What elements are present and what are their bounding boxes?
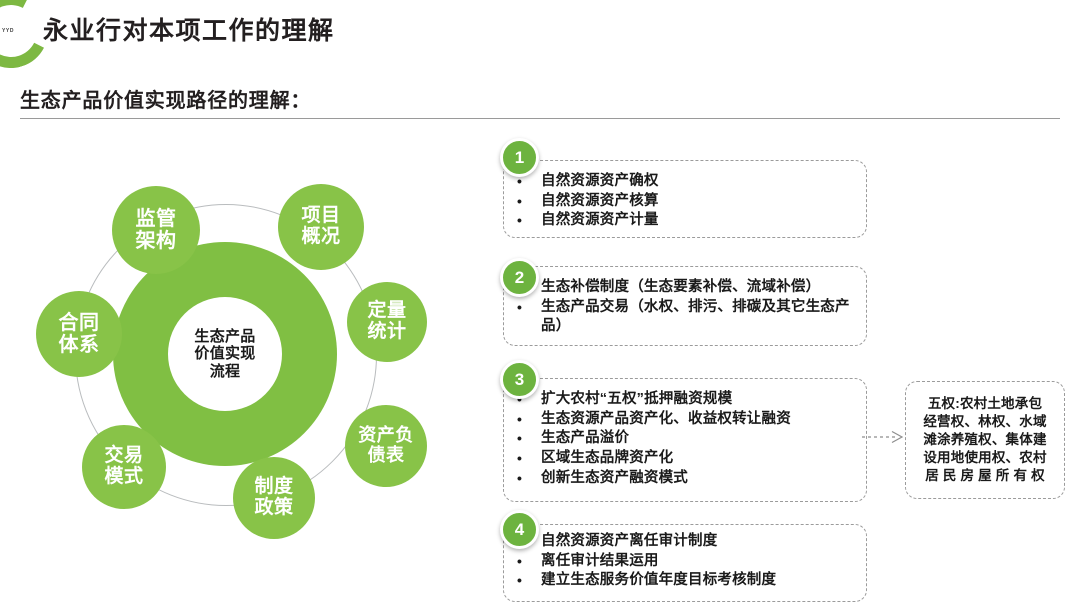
wuquan-definition-line: 设用地使用权、农村 bbox=[923, 449, 1046, 467]
list-item-text: 生态产品溢价 bbox=[541, 429, 857, 449]
node-label-line: 资产负 bbox=[358, 426, 414, 446]
step-2-number-badge[interactable]: 2 bbox=[500, 258, 539, 297]
node-label-line: 定量 bbox=[367, 301, 406, 322]
node-institutional-policy[interactable]: 制度政策 bbox=[233, 457, 315, 539]
node-label-line: 监管 bbox=[136, 208, 177, 230]
node-label-line: 模式 bbox=[104, 467, 143, 488]
bullet-icon: • bbox=[517, 429, 541, 448]
bullet-icon: • bbox=[517, 298, 541, 317]
list-item: •生态产品溢价 bbox=[517, 429, 857, 449]
node-contract-system[interactable]: 合同体系 bbox=[36, 291, 122, 377]
list-item-text: 自然资源资产计量 bbox=[541, 211, 857, 231]
step-1-number-badge[interactable]: 1 bbox=[500, 138, 539, 177]
node-label-line: 交易 bbox=[104, 446, 143, 467]
value-realization-steps: 1•自然资源资产确权•自然资源资产核算•自然资源资产计量2•生态补偿制度（生态要… bbox=[495, 138, 1080, 608]
node-label-line: 架构 bbox=[136, 230, 177, 252]
wuquan-definition-text: 五权:农村土地承包经营权、林权、水域滩涂养殖权、集体建设用地使用权、农村居 民 … bbox=[923, 395, 1046, 485]
list-item: •扩大农村“五权”抵押融资规模 bbox=[517, 390, 857, 410]
wuquan-definition-line: 五权:农村土地承包 bbox=[923, 395, 1046, 413]
section-title: 生态产品价值实现路径的理解： bbox=[20, 84, 311, 113]
arrow-to-wuquan-box bbox=[862, 425, 908, 449]
step-4-items: •自然资源资产离任审计制度•离任审计结果运用•建立生态服务价值年度目标考核制度 bbox=[517, 532, 857, 591]
wuquan-definition-line: 滩涂养殖权、集体建 bbox=[923, 431, 1046, 449]
diagram-center-line: 价值实现 bbox=[194, 345, 255, 362]
list-item-text: 扩大农村“五权”抵押融资规模 bbox=[541, 390, 857, 410]
node-project-overview[interactable]: 项目概况 bbox=[278, 184, 364, 270]
list-item: •生态资源产品资产化、收益权转让融资 bbox=[517, 410, 857, 430]
wuquan-definition-line: 居 民 房 屋 所 有 权 bbox=[923, 467, 1046, 485]
node-trading-model[interactable]: 交易模式 bbox=[82, 425, 166, 509]
node-label-line: 制度 bbox=[254, 477, 293, 498]
node-label-line: 体系 bbox=[59, 334, 100, 356]
node-label-line: 项目 bbox=[301, 206, 340, 227]
wuquan-definition-box: 五权:农村土地承包经营权、林权、水域滩涂养殖权、集体建设用地使用权、农村居 民 … bbox=[905, 381, 1065, 499]
bullet-icon: • bbox=[517, 469, 541, 488]
bullet-icon: • bbox=[517, 211, 541, 230]
bullet-icon: • bbox=[517, 192, 541, 211]
list-item: •区域生态品牌资产化 bbox=[517, 449, 857, 469]
step-3-number-badge[interactable]: 3 bbox=[500, 360, 539, 399]
node-balance-sheet[interactable]: 资产负债表 bbox=[345, 405, 427, 487]
step-4-number-badge[interactable]: 4 bbox=[500, 510, 539, 549]
step-1-items: •自然资源资产确权•自然资源资产核算•自然资源资产计量 bbox=[517, 172, 857, 231]
list-item-text: 自然资源资产核算 bbox=[541, 192, 857, 212]
node-label-line: 概况 bbox=[301, 227, 340, 248]
page-title: 永业行对本项工作的理解 bbox=[43, 11, 335, 47]
bullet-icon: • bbox=[517, 410, 541, 429]
list-item-text: 生态补偿制度（生态要素补偿、流域补偿） bbox=[541, 278, 857, 298]
list-item-text: 创新生态资产融资模式 bbox=[541, 469, 857, 489]
bullet-icon: • bbox=[517, 571, 541, 590]
list-item-text: 自然资源资产离任审计制度 bbox=[541, 532, 857, 552]
header-divider bbox=[20, 118, 1060, 119]
step-3-items: •扩大农村“五权”抵押融资规模•生态资源产品资产化、收益权转让融资•生态产品溢价… bbox=[517, 390, 857, 489]
logo-subtext: YYD bbox=[2, 28, 14, 34]
node-label-line: 政策 bbox=[254, 498, 293, 519]
slide-root: YYD 永业行对本项工作的理解 生态产品价值实现路径的理解： 生态产品价值实现流… bbox=[0, 0, 1080, 610]
list-item-text: 生态资源产品资产化、收益权转让融资 bbox=[541, 410, 857, 430]
list-item-text: 生态产品交易（水权、排污、排碳及其它生态产品） bbox=[541, 298, 857, 337]
list-item-text: 建立生态服务价值年度目标考核制度 bbox=[541, 571, 857, 591]
list-item: •创新生态资产融资模式 bbox=[517, 469, 857, 489]
list-item-text: 离任审计结果运用 bbox=[541, 552, 857, 572]
bullet-icon: • bbox=[517, 449, 541, 468]
list-item: •自然资源资产确权 bbox=[517, 172, 857, 192]
list-item: •自然资源资产离任审计制度 bbox=[517, 532, 857, 552]
list-item: •建立生态服务价值年度目标考核制度 bbox=[517, 571, 857, 591]
node-label-line: 统计 bbox=[367, 322, 406, 343]
node-regulatory-framework[interactable]: 监管架构 bbox=[112, 186, 200, 274]
list-item: •自然资源资产核算 bbox=[517, 192, 857, 212]
node-label-line: 债表 bbox=[358, 446, 414, 466]
list-item: •生态补偿制度（生态要素补偿、流域补偿） bbox=[517, 278, 857, 298]
diagram-center-line: 流程 bbox=[194, 363, 255, 380]
wuquan-definition-line: 经营权、林权、水域 bbox=[923, 413, 1046, 431]
node-quantitative-statistics[interactable]: 定量统计 bbox=[347, 282, 427, 362]
node-label-line: 合同 bbox=[59, 312, 100, 334]
bullet-icon: • bbox=[517, 552, 541, 571]
list-item-text: 自然资源资产确权 bbox=[541, 172, 857, 192]
list-item-text: 区域生态品牌资产化 bbox=[541, 449, 857, 469]
list-item: •自然资源资产计量 bbox=[517, 211, 857, 231]
step-2-items: •生态补偿制度（生态要素补偿、流域补偿）•生态产品交易（水权、排污、排碳及其它生… bbox=[517, 278, 857, 337]
list-item: •生态产品交易（水权、排污、排碳及其它生态产品） bbox=[517, 298, 857, 337]
ecological-value-cycle-diagram: 生态产品价值实现流程 项目概况定量统计资产负债表制度政策交易模式合同体系监管架构 bbox=[20, 160, 470, 560]
diagram-center-line: 生态产品 bbox=[194, 328, 255, 345]
list-item: •离任审计结果运用 bbox=[517, 552, 857, 572]
